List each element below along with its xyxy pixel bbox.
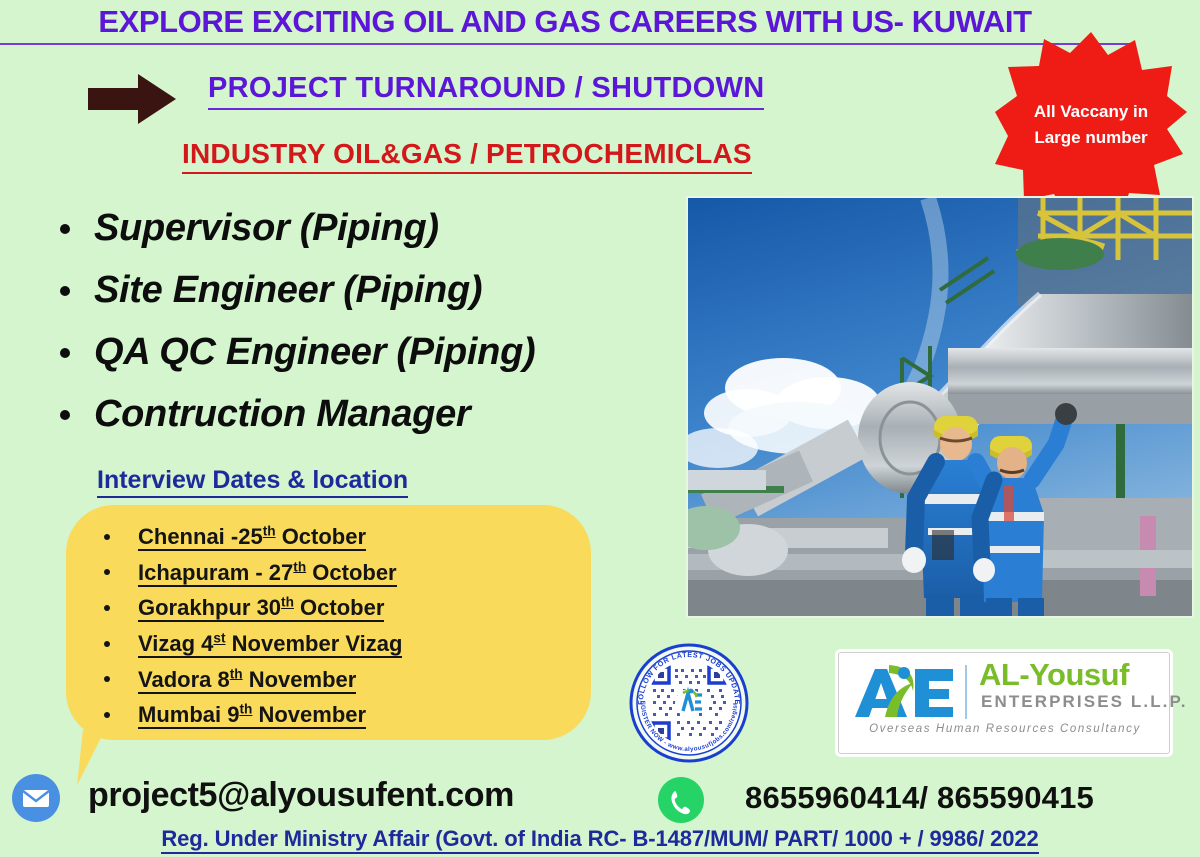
right-arrow-icon [88,72,176,126]
list-item: Supervisor (Piping) [42,198,682,260]
list-item: Mumbai 9th November [66,697,591,733]
interview-date-text: Vadora 8th November [138,667,356,694]
list-item: Vadora 8th November [66,662,591,698]
email-address[interactable]: project5@alyousufent.com [88,776,514,815]
qr-code-badge[interactable]: FOLLOW FOR LATEST JOBS UPDATE REGISTER N… [625,643,753,763]
company-logo: AL-Yousuf ENTERPRISES L.L.P. Overseas Hu… [838,652,1170,754]
starburst-icon [995,32,1187,218]
whatsapp-icon[interactable] [655,774,707,826]
interview-dates-heading: Interview Dates & location [97,466,408,498]
page-title: EXPLORE EXCITING OIL AND GAS CAREERS WIT… [0,4,1130,45]
vacancy-badge: All Vaccany in Large number [995,32,1187,218]
list-item: Site Engineer (Piping) [42,260,682,322]
list-item: Chennai -25th October [66,519,591,555]
job-positions-list: Supervisor (Piping) Site Engineer (Pipin… [42,198,682,446]
list-item: Gorakhpur 30th October [66,590,591,626]
logo-mark-icon [849,661,957,723]
interview-date-text: Gorakhpur 30th October [138,595,384,622]
list-item: Ichapuram - 27th October [66,555,591,591]
interview-dates-list: Chennai -25th October Ichapuram - 27th O… [66,505,591,754]
logo-divider [965,665,967,719]
list-item: Vizag 4st November Vizag [66,626,591,662]
phone-numbers[interactable]: 8655960414/ 865590415 [745,780,1094,816]
recruitment-poster: EXPLORE EXCITING OIL AND GAS CAREERS WIT… [0,0,1200,857]
interview-date-text: Mumbai 9th November [138,702,366,729]
list-item: Contruction Manager [42,384,682,446]
interview-date-text: Ichapuram - 27th October [138,560,397,587]
refinery-workers-photo [686,196,1194,618]
industry-subtitle: INDUSTRY OIL&GAS / PETROCHEMICLAS [182,138,752,174]
logo-company-name: AL-Yousuf [979,659,1129,690]
interview-date-text: Vizag 4st November Vizag [138,631,402,658]
list-item: QA QC Engineer (Piping) [42,322,682,384]
logo-company-type: ENTERPRISES L.L.P. [981,693,1188,710]
interview-dates-bubble: Chennai -25th October Ichapuram - 27th O… [66,505,591,740]
interview-date-text: Chennai -25th October [138,524,366,551]
registration-footer: Reg. Under Ministry Affair (Govt. of Ind… [0,826,1200,852]
registration-footer-text: Reg. Under Ministry Affair (Govt. of Ind… [161,826,1038,854]
project-subtitle: PROJECT TURNAROUND / SHUTDOWN [208,72,764,110]
email-icon[interactable] [10,772,62,824]
logo-tagline: Overseas Human Resources Consultancy [855,723,1155,735]
